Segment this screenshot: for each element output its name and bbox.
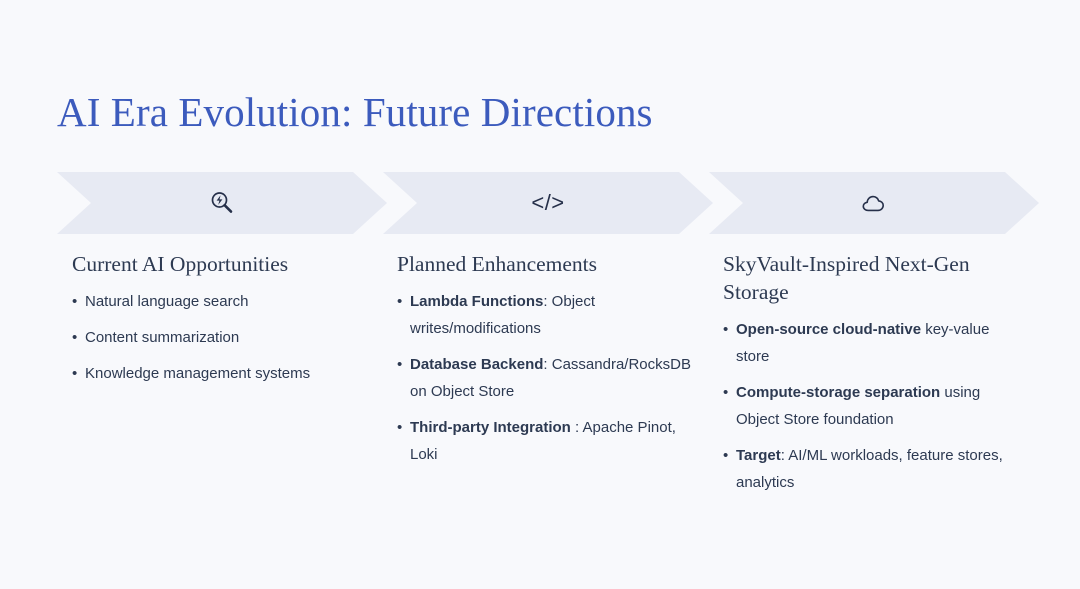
list-item-text: Content summarization (85, 324, 372, 351)
bullet-marker: • (72, 360, 77, 387)
list-item: • Database Backend: Cassandra/RocksDB on… (397, 351, 702, 405)
bullet-list: • Lambda Functions: Object writes/modifi… (397, 288, 702, 468)
bullet-marker: • (397, 288, 402, 315)
column-skyvault-next-gen-storage: SkyVault-Inspired Next-Gen Storage • Ope… (723, 250, 1023, 505)
list-item: • Content summarization (72, 324, 372, 351)
cloud-icon (709, 172, 1039, 234)
list-item-body: Natural language search (85, 293, 248, 310)
list-item-label: Open-source cloud-native (736, 321, 921, 338)
list-item-label: Compute-storage separation (736, 384, 940, 401)
list-item: • Open-source cloud-native key-value sto… (723, 316, 1023, 370)
list-item-label: Third-party Integration (410, 419, 571, 436)
list-item-label: Target (736, 447, 781, 464)
list-item: • Lambda Functions: Object writes/modifi… (397, 288, 702, 342)
chevron-banner: </> (0, 172, 1080, 234)
list-item-text: Knowledge management systems (85, 360, 372, 387)
code-brackets-icon: </> (383, 172, 713, 234)
column-heading: SkyVault-Inspired Next-Gen Storage (723, 250, 1023, 306)
bullet-list: • Open-source cloud-native key-value sto… (723, 316, 1023, 496)
list-item-label: Database Backend (410, 356, 543, 373)
bullet-marker: • (72, 288, 77, 315)
list-item-text: Target: AI/ML workloads, feature stores,… (736, 442, 1023, 496)
code-brackets-glyph: </> (531, 192, 564, 214)
bullet-list: • Natural language search • Content summ… (72, 288, 372, 387)
bullet-marker: • (723, 316, 728, 343)
list-item: • Knowledge management systems (72, 360, 372, 387)
bullet-marker: • (723, 442, 728, 469)
column-current-ai-opportunities: Current AI Opportunities • Natural langu… (72, 250, 372, 396)
bullet-marker: • (397, 414, 402, 441)
column-planned-enhancements: Planned Enhancements • Lambda Functions:… (397, 250, 702, 477)
list-item-body: Content summarization (85, 329, 239, 346)
list-item-text: Database Backend: Cassandra/RocksDB on O… (410, 351, 702, 405)
list-item-text: Third-party Integration : Apache Pinot, … (410, 414, 702, 468)
bullet-marker: • (723, 379, 728, 406)
slide-canvas: AI Era Evolution: Future Directions </> … (0, 0, 1080, 589)
list-item: • Target: AI/ML workloads, feature store… (723, 442, 1023, 496)
list-item: • Compute-storage separation using Objec… (723, 379, 1023, 433)
list-item: • Natural language search (72, 288, 372, 315)
list-item-text: Natural language search (85, 288, 372, 315)
list-item-text: Lambda Functions: Object writes/modifica… (410, 288, 702, 342)
list-item-label: Lambda Functions (410, 293, 543, 310)
bullet-marker: • (72, 324, 77, 351)
column-heading: Current AI Opportunities (72, 250, 372, 278)
list-item-text: Open-source cloud-native key-value store (736, 316, 1023, 370)
page-title: AI Era Evolution: Future Directions (57, 86, 653, 138)
list-item-body: Knowledge management systems (85, 365, 310, 382)
list-item: • Third-party Integration : Apache Pinot… (397, 414, 702, 468)
bullet-marker: • (397, 351, 402, 378)
column-heading: Planned Enhancements (397, 250, 702, 278)
magnifier-bolt-icon (57, 172, 387, 234)
list-item-text: Compute-storage separation using Object … (736, 379, 1023, 433)
